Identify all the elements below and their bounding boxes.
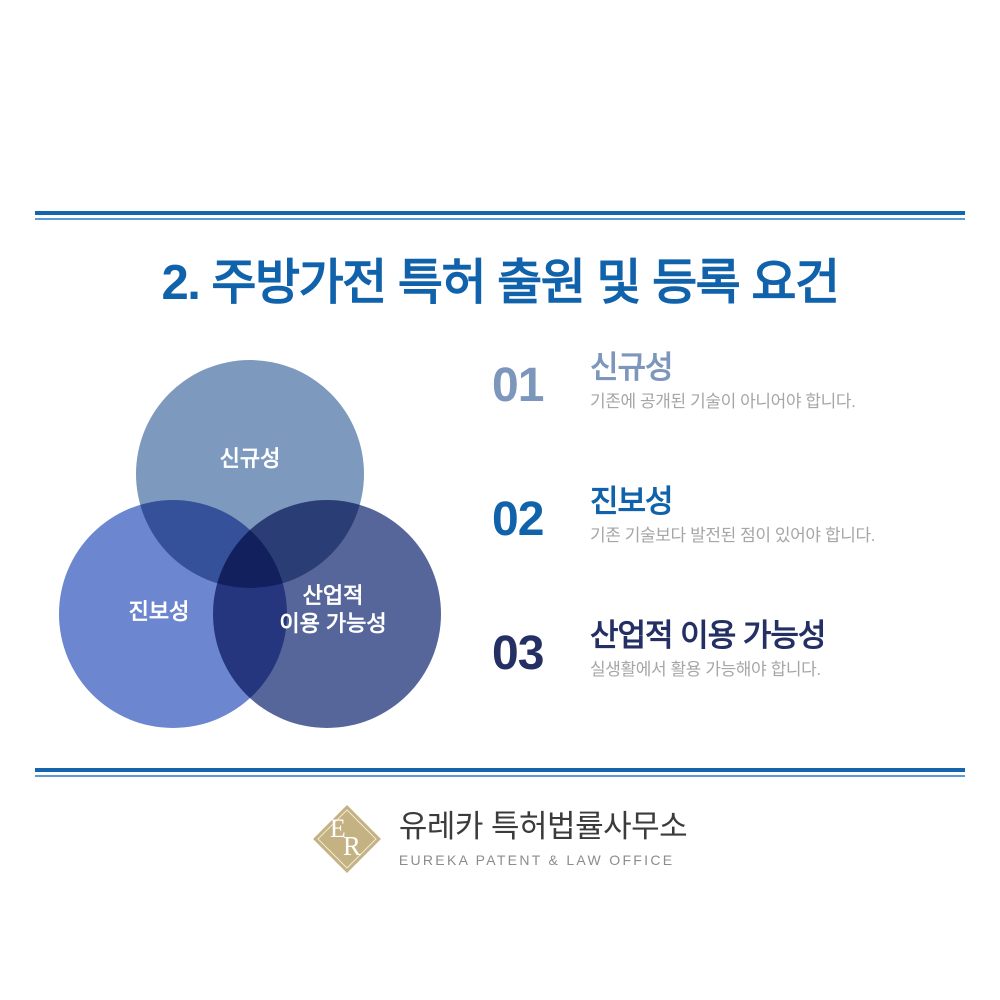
venn-diagram: 신규성 진보성 산업적 이용 가능성 <box>55 352 445 742</box>
requirement-body-03: 산업적 이용 가능성 실생활에서 활용 가능해야 합니다. <box>590 618 962 682</box>
requirement-description-02: 기존 기술보다 발전된 점이 있어야 합니다. <box>590 525 962 548</box>
page-title: 2. 주방가전 특허 출원 및 등록 요건 <box>0 243 1000 314</box>
venn-label-inventive: 진보성 <box>89 598 229 626</box>
requirement-item-01: 01 신규성 기존에 공개된 기술이 아니어야 합니다. <box>492 350 962 446</box>
divider-top-thin-line <box>35 218 965 220</box>
requirement-description-01: 기존에 공개된 기술이 아니어야 합니다. <box>590 391 962 414</box>
diamond-inner-border <box>317 809 376 868</box>
venn-label-industrial: 산업적 이용 가능성 <box>263 582 403 638</box>
venn-label-novelty: 신규성 <box>180 445 320 473</box>
divider-bottom-thin-line <box>35 775 965 777</box>
venn-label-industrial-line1: 산업적 <box>263 582 403 610</box>
requirement-heading-03: 산업적 이용 가능성 <box>590 618 962 655</box>
requirement-description-03: 실생활에서 활용 가능해야 합니다. <box>590 659 962 682</box>
footer-logo: E R 유레카 특허법률사무소 EUREKA PATENT & LAW OFFI… <box>0 805 1000 873</box>
divider-top <box>35 211 965 220</box>
requirement-heading-01: 신규성 <box>590 350 962 387</box>
divider-bottom <box>35 768 965 777</box>
requirements-list: 01 신규성 기존에 공개된 기술이 아니어야 합니다. 02 진보성 기존 기… <box>492 350 962 752</box>
firm-name-korean: 유레카 특허법률사무소 <box>399 810 687 844</box>
requirement-heading-02: 진보성 <box>590 484 962 521</box>
requirement-item-03: 03 산업적 이용 가능성 실생활에서 활용 가능해야 합니다. <box>492 618 962 714</box>
firm-name-english: EUREKA PATENT & LAW OFFICE <box>399 852 687 868</box>
logo-text-block: 유레카 특허법률사무소 EUREKA PATENT & LAW OFFICE <box>399 810 687 867</box>
slide-canvas: 2. 주방가전 특허 출원 및 등록 요건 신규성 진보성 산업적 이용 가능성… <box>0 0 1000 1000</box>
requirement-body-02: 진보성 기존 기술보다 발전된 점이 있어야 합니다. <box>590 484 962 548</box>
requirement-number-01: 01 <box>492 350 590 410</box>
requirement-body-01: 신규성 기존에 공개된 기술이 아니어야 합니다. <box>590 350 962 414</box>
requirement-number-02: 02 <box>492 484 590 544</box>
venn-label-industrial-line2: 이용 가능성 <box>263 610 403 638</box>
requirement-item-02: 02 진보성 기존 기술보다 발전된 점이 있어야 합니다. <box>492 484 962 580</box>
requirement-number-03: 03 <box>492 618 590 678</box>
diamond-logo-icon: E R <box>313 805 381 873</box>
diamond-shape <box>313 805 381 873</box>
